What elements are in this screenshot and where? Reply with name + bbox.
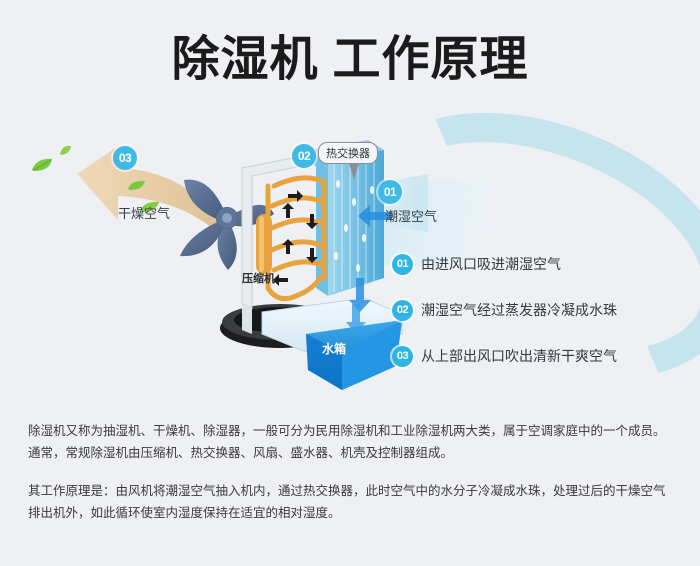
list-item: 02 潮湿空气经过蒸发器冷凝成水珠 xyxy=(392,298,692,322)
page-title-part2: 工作原理 xyxy=(333,33,529,86)
step-text-03: 从上部出风口吹出清新干爽空气 xyxy=(421,346,617,366)
body-paragraph-1: 除湿机又称为抽湿机、干燥机、除湿器，一般可分为民用除湿机和工业除湿机两大类，属于… xyxy=(28,420,676,464)
label-dry-air: 干燥空气 xyxy=(118,203,170,222)
step-text-02: 潮湿空气经过蒸发器冷凝成水珠 xyxy=(421,300,617,320)
leaf-icon xyxy=(30,156,56,174)
steps-list: 01 由进风口吸进潮湿空气 02 潮湿空气经过蒸发器冷凝成水珠 03 从上部出风… xyxy=(392,252,692,390)
step-badge-03: 03 xyxy=(392,346,413,367)
step-badge-02: 02 xyxy=(392,300,413,321)
leaf-icon xyxy=(59,144,73,156)
diagram-badge-03: 03 xyxy=(113,146,137,170)
list-item: 03 从上部出风口吹出清新干爽空气 xyxy=(392,344,692,368)
body-paragraph-2: 其工作原理是：由风机将潮湿空气抽入机内，通过热交换器，此时空气中的水分子冷凝成水… xyxy=(28,480,676,524)
page-title-part1: 除湿机 xyxy=(171,33,318,86)
page-title: 除湿机工作原理 xyxy=(0,34,700,87)
step-badge-01: 01 xyxy=(392,254,413,275)
label-compressor: 压缩机 xyxy=(242,270,275,286)
label-humid-air: 潮湿空气 xyxy=(385,206,437,225)
leaf-icon xyxy=(127,178,147,192)
body-copy: 除湿机又称为抽湿机、干燥机、除湿器，一般可分为民用除湿机和工业除湿机两大类，属于… xyxy=(28,420,676,524)
step-text-01: 由进风口吸进潮湿空气 xyxy=(421,254,561,274)
diagram-badge-01: 01 xyxy=(378,180,402,204)
diagram-badge-02: 02 xyxy=(292,144,316,168)
callout-heat-exchanger: 热交换器 xyxy=(318,142,378,164)
list-item: 01 由进风口吸进潮湿空气 xyxy=(392,252,692,276)
label-water-tank: 水箱 xyxy=(322,340,346,357)
page-root: 除湿机工作原理 xyxy=(0,0,700,566)
